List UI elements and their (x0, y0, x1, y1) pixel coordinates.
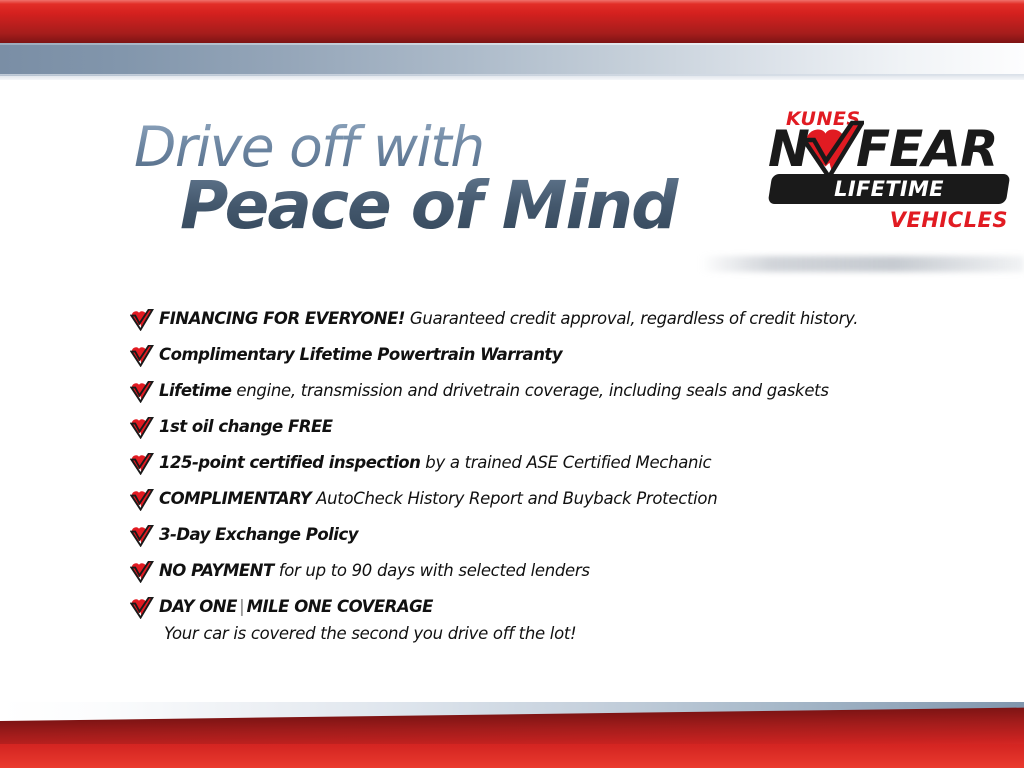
list-item-lead: Complimentary Lifetime Powertrain Warran… (159, 345, 562, 364)
logo-footer-vehicles: VEHICLES (890, 208, 1008, 232)
list-item-text: 1st oil change FREE (159, 416, 333, 438)
list-item-lead: Lifetime (159, 381, 231, 400)
list-item-lead: NO PAYMENT (159, 561, 274, 580)
list-item: 1st oil change FREE (130, 416, 930, 439)
list-item-detail: engine, transmission and drivetrain cove… (231, 381, 828, 400)
list-item-text: 125-point certified inspection by a trai… (159, 452, 711, 474)
list-item-detail: for up to 90 days with selected lenders (274, 561, 590, 580)
list-item: 3-Day Exchange Policy (130, 524, 930, 547)
bottom-red-cap (0, 744, 1024, 768)
heart-check-mark-icon (798, 120, 864, 182)
logo-panel-shadow (700, 256, 1024, 272)
heart-check-icon (130, 381, 154, 403)
kunes-no-fear-logo: KUNES N FEAR LIFETIME CERTIFIED VEHICLES (764, 108, 1012, 248)
list-item-lead: 3-Day Exchange Policy (159, 525, 358, 544)
list-item-detail: AutoCheck History Report and Buyback Pro… (311, 489, 717, 508)
logo-wordmark: N FEAR (764, 124, 1012, 178)
list-item-text: FINANCING FOR EVERYONE! Guaranteed credi… (159, 308, 858, 330)
heart-check-icon (130, 345, 154, 367)
list-item-text: Complimentary Lifetime Powertrain Warran… (159, 344, 562, 366)
heart-check-icon (130, 597, 154, 619)
headline-block: Drive off with Peace of Mind (134, 118, 734, 242)
list-item: DAY ONE|MILE ONE COVERAGE (130, 596, 930, 619)
list-item-text: 3-Day Exchange Policy (159, 524, 358, 546)
heart-check-icon (130, 525, 154, 547)
top-slate-stripe (0, 43, 1024, 76)
list-item-lead: 125-point certified inspection (159, 453, 420, 472)
list-item-subtext: Your car is covered the second you drive… (164, 622, 930, 645)
heart-check-icon (130, 489, 154, 511)
bottom-banner (0, 688, 1024, 768)
top-banner (0, 0, 1024, 80)
list-item: Lifetime engine, transmission and drivet… (130, 380, 930, 403)
list-item-bold-left: DAY ONE (159, 597, 237, 616)
heart-check-icon (130, 561, 154, 583)
top-red-highlight (0, 0, 1024, 4)
list-item: Complimentary Lifetime Powertrain Warran… (130, 344, 930, 367)
heart-check-icon (130, 453, 154, 475)
headline-line-2: Peace of Mind (180, 170, 734, 242)
logo-word-fear: FEAR (856, 124, 998, 174)
list-item-detail: Guaranteed credit approval, regardless o… (405, 309, 858, 328)
list-item-lead: COMPLIMENTARY (159, 489, 311, 508)
list-item: FINANCING FOR EVERYONE! Guaranteed credi… (130, 308, 930, 331)
list-item-detail: by a trained ASE Certified Mechanic (420, 453, 711, 472)
heart-check-icon (130, 309, 154, 331)
list-item-lead: FINANCING FOR EVERYONE! (159, 309, 405, 328)
top-slate-highlight (0, 43, 1024, 45)
list-item-lead: 1st oil change FREE (159, 417, 333, 436)
top-red-stripe (0, 0, 1024, 43)
list-item-text: NO PAYMENT for up to 90 days with select… (159, 560, 590, 582)
list-item-separator: | (237, 597, 247, 616)
list-item: 125-point certified inspection by a trai… (130, 452, 930, 475)
list-item-text: Lifetime engine, transmission and drivet… (159, 380, 829, 402)
top-slate-fade (0, 74, 1024, 80)
logo-certified-text: LIFETIME CERTIFIED (770, 174, 1008, 204)
list-item: NO PAYMENT for up to 90 days with select… (130, 560, 930, 583)
list-item: COMPLIMENTARY AutoCheck History Report a… (130, 488, 930, 511)
list-item-text: COMPLIMENTARY AutoCheck History Report a… (159, 488, 717, 510)
benefits-list: FINANCING FOR EVERYONE! Guaranteed credi… (130, 308, 930, 658)
heart-check-icon (130, 417, 154, 439)
list-item-bold-right: MILE ONE COVERAGE (247, 597, 433, 616)
list-item-text: DAY ONE|MILE ONE COVERAGE (159, 596, 433, 618)
